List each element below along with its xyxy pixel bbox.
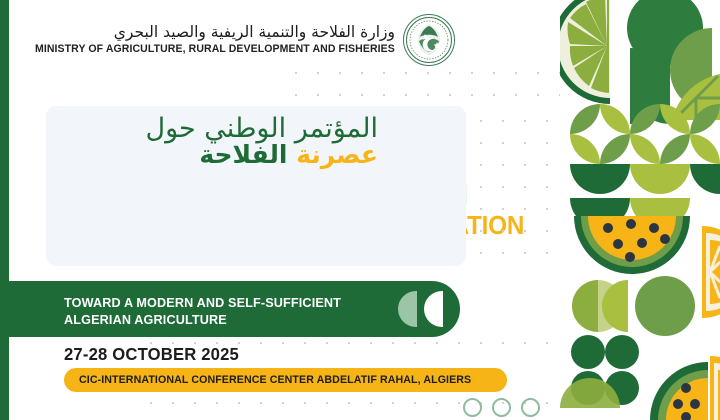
title-arabic-rest: الفلاحة <box>199 140 296 169</box>
conference-poster: وزارة الفلاحة والتنمية الريفية والصيد ال… <box>0 0 720 420</box>
tagline-text: TOWARD A MODERN AND SELF-SUFFICIENT ALGE… <box>64 294 341 328</box>
dot-grid-pattern <box>285 62 575 110</box>
decorative-fruit-pattern <box>560 0 720 420</box>
decorative-ring <box>492 398 511 417</box>
decorative-ring <box>463 398 482 417</box>
title-arabic-line1: المؤتمر الوطني حول <box>118 114 378 143</box>
orange-slice <box>710 356 720 420</box>
algeria-state-emblem-icon <box>403 14 455 66</box>
event-date: 27-28 OCTOBER 2025 <box>64 344 239 365</box>
half-disc-white-icon <box>424 291 443 327</box>
half-disc-pale-icon <box>398 291 417 327</box>
event-venue-text: CIC-INTERNATIONAL CONFERENCE CENTER ABDE… <box>79 374 471 386</box>
title-card: المؤتمر الوطني حول عصرنة الفلاحة <box>46 106 466 266</box>
ministry-header: وزارة الفلاحة والتنمية الريفية والصيد ال… <box>0 14 560 66</box>
ministry-name-english: MINISTRY OF AGRICULTURE, RURAL DEVELOPME… <box>35 43 395 56</box>
decorative-ring <box>521 398 540 417</box>
title-arabic-accent: عصرنة <box>296 140 378 169</box>
tagline-banner: TOWARD A MODERN AND SELF-SUFFICIENT ALGE… <box>0 281 460 337</box>
conference-title-arabic: المؤتمر الوطني حول عصرنة الفلاحة <box>118 114 378 168</box>
orange-slice <box>702 226 720 318</box>
left-green-rail <box>0 0 9 420</box>
tagline-line1: TOWARD A MODERN AND SELF-SUFFICIENT <box>64 295 341 310</box>
event-venue-badge: CIC-INTERNATIONAL CONFERENCE CENTER ABDE… <box>64 368 507 392</box>
title-arabic-line2: عصرنة الفلاحة <box>118 141 378 168</box>
ministry-header-text: وزارة الفلاحة والتنمية الريفية والصيد ال… <box>12 24 395 57</box>
ministry-name-arabic: وزارة الفلاحة والتنمية الريفية والصيد ال… <box>12 24 395 42</box>
tagline-line2: ALGERIAN AGRICULTURE <box>64 312 227 327</box>
